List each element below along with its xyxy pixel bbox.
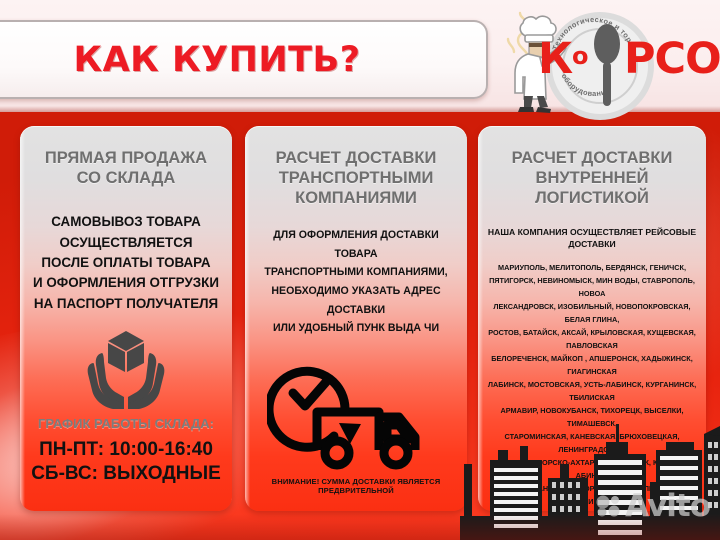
card2-title: РАСЧЕТ ДОСТАВКИ ТРАНСПОРТНЫМИ КОМПАНИЯМИ bbox=[245, 126, 467, 208]
poster-root: КАК КУПИТЬ? Технологическое и торговое о… bbox=[0, 0, 720, 540]
card2-title-line2: ТРАНСПОРТНЫМИ bbox=[255, 168, 457, 188]
page-title: КАК КУПИТЬ? bbox=[73, 40, 360, 80]
card1-title: ПРЯМАЯ ПРОДАЖА СО СКЛАДА bbox=[20, 126, 232, 188]
card1-body-line4: И ОФОРМЛЕНИЯ ОТГРУЗКИ bbox=[26, 273, 226, 293]
card2-title-line1: РАСЧЕТ ДОСТАВКИ bbox=[255, 148, 457, 168]
card1-body-line5: НА ПАСПОРТ ПОЛУЧАТЕЛЯ bbox=[26, 294, 226, 314]
card1-title-line2: СО СКЛАДА bbox=[30, 168, 222, 188]
card2-icon-wrap bbox=[245, 346, 467, 476]
city-line: ПЯТИГОРСК, НЕВИНОМЫСК, МИН ВОДЫ, СТАВРОП… bbox=[485, 275, 699, 301]
city-line: БЕЛОРЕЧЕНСК, МАЙКОП , АПШЕРОНСК, ХАДЫЖИН… bbox=[485, 353, 699, 379]
avito-dots-icon bbox=[596, 495, 622, 517]
card1-body-line3: ПОСЛЕ ОПЛАТЫ ТОВАРА bbox=[26, 253, 226, 273]
card1-schedule-label: ГРАФИК РАБОТЫ СКЛАДА: bbox=[20, 416, 232, 431]
card2-notice: ВНИМАНИЕ! СУММА ДОСТАВКИ ЯВЛЯЕТСЯ ПРЕДВР… bbox=[245, 477, 467, 495]
card-direct-sale: ПРЯМАЯ ПРОДАЖА СО СКЛАДА САМОВЫВОЗ ТОВАР… bbox=[20, 126, 232, 511]
card2-body-line3: НЕОБХОДИМО УКАЗАТЬ АДРЕС ДОСТАВКИ bbox=[253, 282, 459, 319]
card2-body-line2: ТРАНСПОРТНЫМИ КОМПАНИЯМИ, bbox=[253, 263, 459, 282]
city-line: ЛЕКСАНДРОВСК, ИЗОБИЛЬНЫЙ, НОВОПОКРОВСКАЯ… bbox=[485, 301, 699, 327]
logo-letter-k: К bbox=[538, 34, 572, 84]
city-line: РОСТОВ, БАТАЙСК, АКСАЙ, КРЫЛОВСКАЯ, КУЩЕ… bbox=[485, 327, 699, 353]
card3-title: РАСЧЕТ ДОСТАВКИ ВНУТРЕННЕЙ ЛОГИСТИКОЙ bbox=[478, 126, 706, 208]
company-logo: Технологическое и торговое оборудование bbox=[482, 4, 714, 116]
header-banner: КАК КУПИТЬ? bbox=[0, 20, 488, 99]
card1-schedule-weekend: СБ-ВС: ВЫХОДНЫЕ bbox=[20, 462, 232, 486]
logo-wordmark: К о РСО bbox=[538, 34, 718, 86]
card1-body-line2: ОСУЩЕСТВЛЯЕТСЯ bbox=[26, 233, 226, 253]
city-line: МАРИУПОЛЬ, МЕЛИТОПОЛЬ, БЕРДЯНСК, ГЕНИЧСК… bbox=[485, 262, 699, 275]
card3-title-line3: ЛОГИСТИКОЙ bbox=[488, 188, 696, 208]
card-transport-delivery: РАСЧЕТ ДОСТАВКИ ТРАНСПОРТНЫМИ КОМПАНИЯМИ… bbox=[245, 126, 467, 511]
card3-title-line1: РАСЧЕТ ДОСТАВКИ bbox=[488, 148, 696, 168]
card2-body: ДЛЯ ОФОРМЛЕНИЯ ДОСТАВКИ ТОВАРА ТРАНСПОРТ… bbox=[245, 226, 467, 337]
logo-letter-o: о bbox=[572, 42, 588, 70]
card3-title-line2: ВНУТРЕННЕЙ bbox=[488, 168, 696, 188]
card1-body: САМОВЫВОЗ ТОВАРА ОСУЩЕСТВЛЯЕТСЯ ПОСЛЕ ОП… bbox=[20, 212, 232, 314]
city-line: ЛАБИНСК, МОСТОВСКАЯ, УСТЬ-ЛАБИНСК, КУРГА… bbox=[485, 379, 699, 405]
hands-holding-box-icon bbox=[78, 325, 174, 409]
delivery-truck-clock-icon bbox=[267, 347, 445, 475]
card2-body-line4: ИЛИ УДОБНЫЙ ПУНК ВЫДА ЧИ bbox=[253, 319, 459, 338]
logo-letters-rest: РСО bbox=[624, 34, 720, 84]
card1-schedule: ПН-ПТ: 10:00-16:40 СБ-ВС: ВЫХОДНЫЕ bbox=[20, 438, 232, 487]
card2-body-line1: ДЛЯ ОФОРМЛЕНИЯ ДОСТАВКИ ТОВАРА bbox=[253, 226, 459, 263]
card2-title-line3: КОМПАНИЯМИ bbox=[255, 188, 457, 208]
card1-title-line1: ПРЯМАЯ ПРОДАЖА bbox=[30, 148, 222, 168]
avito-label: Avito bbox=[625, 488, 710, 524]
avito-watermark: Avito bbox=[596, 488, 710, 524]
header-highlight bbox=[0, 25, 482, 27]
card3-lead: НАША КОМПАНИЯ ОСУЩЕСТВЛЯЕТ РЕЙСОВЫЕ ДОСТ… bbox=[478, 226, 706, 250]
card1-body-line1: САМОВЫВОЗ ТОВАРА bbox=[26, 212, 226, 232]
card1-icon-wrap bbox=[20, 324, 232, 410]
card1-schedule-weekdays: ПН-ПТ: 10:00-16:40 bbox=[20, 438, 232, 462]
